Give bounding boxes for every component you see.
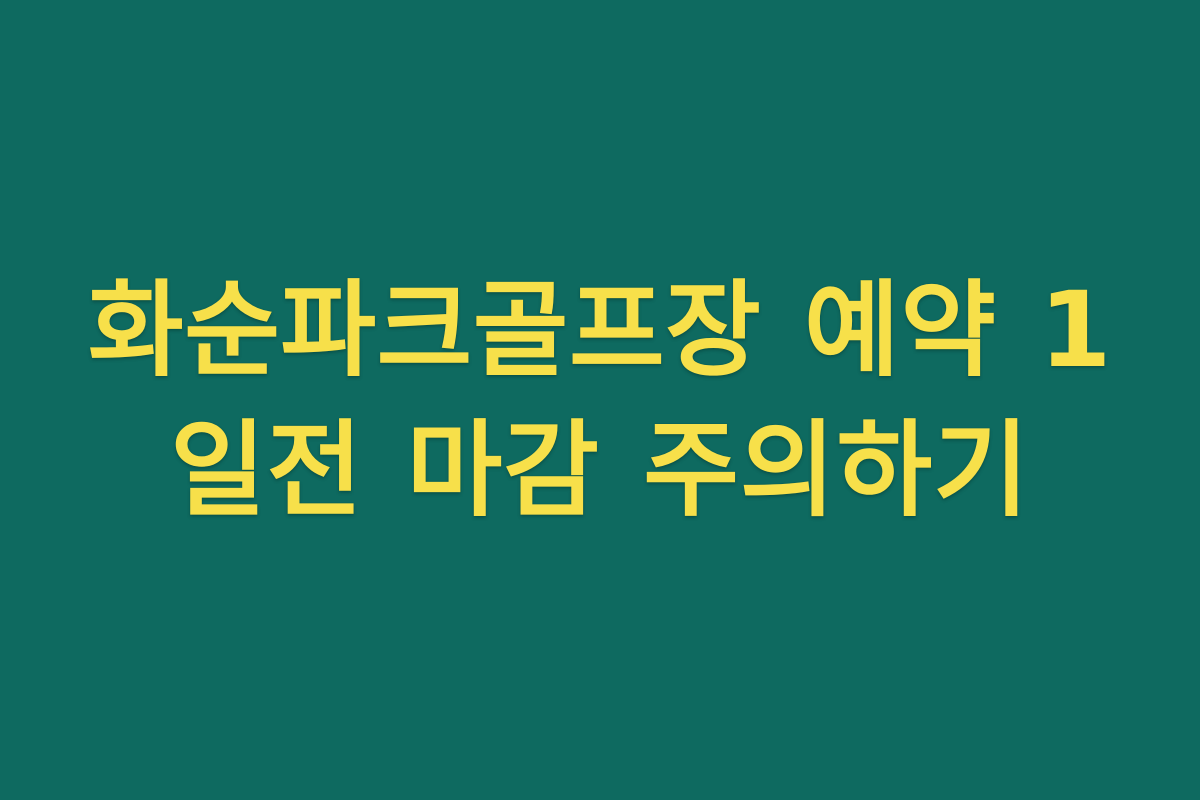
headline-line-2: 일전 마감 주의하기 xyxy=(50,400,1150,540)
headline-line-1: 화순파크골프장 예약 1 xyxy=(50,260,1150,400)
banner-canvas: 화순파크골프장 예약 1 일전 마감 주의하기 xyxy=(0,0,1200,800)
headline-text-block: 화순파크골프장 예약 1 일전 마감 주의하기 xyxy=(50,260,1150,540)
